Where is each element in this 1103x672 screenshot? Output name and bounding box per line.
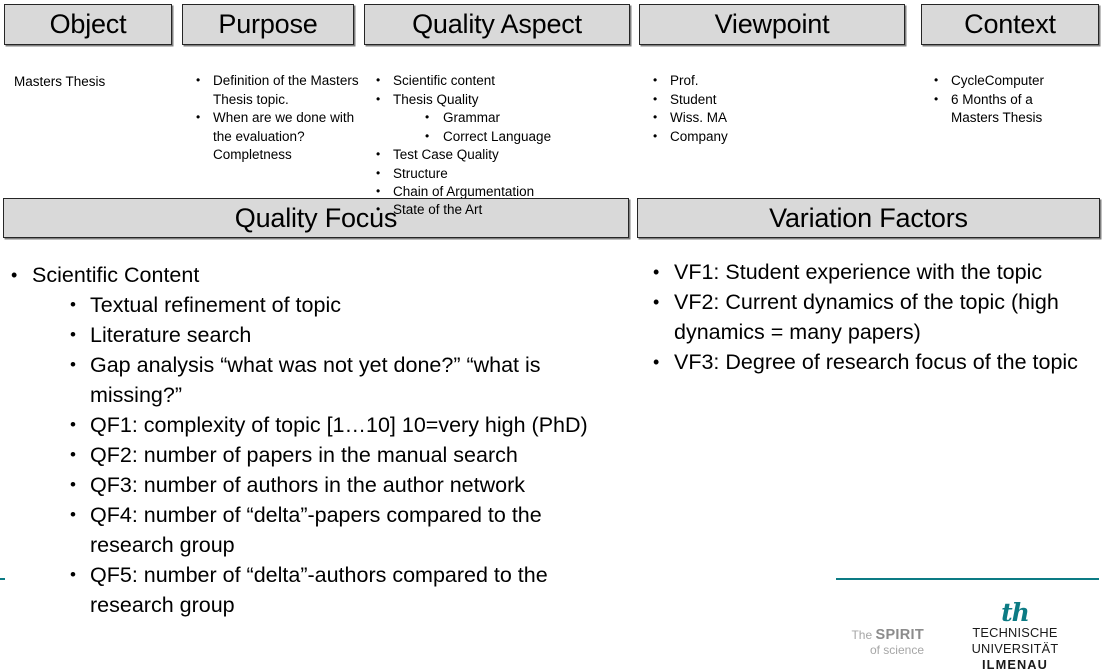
quality-aspect-subitem-label: Correct Language: [443, 129, 551, 144]
th-monogram-icon: th: [930, 601, 1100, 625]
spirit-line-2: of science: [820, 643, 924, 658]
variation-factor-item: VF1: Student experience with the topic: [650, 257, 1090, 287]
purpose-item: Definition of the Masters Thesis topic.: [192, 72, 370, 109]
quality-aspect-list: Scientific content Thesis Quality Gramma…: [372, 72, 634, 202]
quality-focus-list: Scientific Content Textual refinement of…: [8, 260, 628, 620]
spirit-of-science-logo: The SPIRIT of science: [820, 628, 924, 658]
header-box-viewpoint[interactable]: Viewpoint: [639, 4, 905, 45]
header-label-viewpoint: Viewpoint: [715, 11, 830, 38]
column-body-quality-aspect: Scientific content Thesis Quality Gramma…: [372, 72, 634, 202]
quality-aspect-item-label: Thesis Quality: [393, 92, 479, 107]
viewpoint-item-label: Prof.: [670, 73, 699, 88]
quality-focus-item: QF3: number of authors in the author net…: [32, 470, 628, 500]
spirit-word: SPIRIT: [875, 627, 924, 643]
context-item-label: 6 Months of a Masters Thesis: [951, 92, 1042, 126]
context-item: 6 Months of a Masters Thesis: [930, 91, 1080, 128]
quality-aspect-item: Test Case Quality: [372, 146, 634, 165]
purpose-list: Definition of the Masters Thesis topic. …: [192, 72, 370, 165]
context-list: CycleComputer 6 Months of a Masters Thes…: [930, 72, 1080, 128]
quality-aspect-item: Scientific content: [372, 72, 634, 91]
spirit-the: The: [851, 628, 875, 642]
viewpoint-item-label: Student: [670, 92, 717, 107]
header-label-variation-factors: Variation Factors: [769, 205, 968, 232]
object-item-0: Masters Thesis: [14, 74, 105, 89]
quality-focus-body: Scientific Content Textual refinement of…: [8, 260, 628, 620]
quality-focus-item: QF1: complexity of topic [1…10] 10=very …: [32, 410, 628, 440]
header-box-variation-factors[interactable]: Variation Factors: [637, 198, 1100, 238]
quality-focus-item-label: QF1: complexity of topic [1…10] 10=very …: [90, 413, 588, 437]
header-box-object[interactable]: Object: [4, 4, 172, 45]
quality-aspect-item-label: Chain of Argumentation: [393, 184, 534, 199]
viewpoint-item: Prof.: [649, 72, 899, 91]
column-body-purpose: Definition of the Masters Thesis topic. …: [192, 72, 370, 165]
quality-aspect-subitem: Grammar: [393, 109, 634, 128]
quality-aspect-item: Structure: [372, 165, 634, 184]
viewpoint-item: Student: [649, 91, 899, 110]
quality-aspect-overflow-item: State of the Art: [372, 201, 634, 220]
viewpoint-item: Wiss. MA: [649, 109, 899, 128]
quality-aspect-subitem: Correct Language: [393, 128, 634, 147]
footer-rule: [836, 578, 1099, 580]
header-label-purpose: Purpose: [218, 11, 317, 38]
footer-rule-left-tick: [0, 578, 5, 580]
column-body-object: Masters Thesis: [14, 73, 174, 92]
quality-aspect-overflow-list: State of the Art: [372, 201, 634, 220]
purpose-item: When are we done with the evaluation? Co…: [192, 109, 370, 165]
header-box-purpose[interactable]: Purpose: [182, 4, 354, 45]
quality-focus-item-label: Gap analysis “what was not yet done?” “w…: [90, 353, 541, 407]
quality-focus-top-item: Scientific Content Textual refinement of…: [8, 260, 628, 620]
header-label-object: Object: [50, 11, 127, 38]
quality-aspect-sublist: Grammar Correct Language: [393, 109, 634, 146]
spirit-line-1: The SPIRIT: [820, 628, 924, 643]
context-item-label: CycleComputer: [951, 73, 1044, 88]
quality-focus-item: QF5: number of “delta”-authors compared …: [32, 560, 628, 620]
header-label-quality-aspect: Quality Aspect: [412, 11, 582, 38]
column-body-viewpoint: Prof. Student Wiss. MA Company: [649, 72, 899, 146]
tu-ilmenau-logo: th TECHNISCHE UNIVERSITÄT ILMENAU: [930, 601, 1100, 672]
quality-focus-sublist: Textual refinement of topic Literature s…: [32, 290, 628, 620]
quality-focus-item-label: QF3: number of authors in the author net…: [90, 473, 525, 497]
quality-focus-top-item-label: Scientific Content: [32, 263, 199, 287]
quality-aspect-item-label: Structure: [393, 166, 448, 181]
variation-factors-list: VF1: Student experience with the topic V…: [650, 257, 1090, 377]
tu-logo-line-2: ILMENAU: [930, 657, 1100, 672]
quality-aspect-item-label: Scientific content: [393, 73, 495, 88]
variation-factor-item-label: VF1: Student experience with the topic: [674, 260, 1042, 284]
variation-factor-item: VF2: Current dynamics of the topic (high…: [650, 287, 1090, 347]
quality-focus-item-label: Literature search: [90, 323, 251, 347]
context-item: CycleComputer: [930, 72, 1080, 91]
variation-factor-item-label: VF2: Current dynamics of the topic (high…: [674, 290, 1059, 344]
quality-focus-item-label: QF4: number of “delta”-papers compared t…: [90, 503, 542, 557]
header-box-context[interactable]: Context: [921, 4, 1099, 45]
purpose-item-label: When are we done with the evaluation? Co…: [213, 110, 354, 162]
purpose-item-label: Definition of the Masters Thesis topic.: [213, 73, 359, 107]
quality-focus-item: QF2: number of papers in the manual sear…: [32, 440, 628, 470]
quality-focus-item: Textual refinement of topic: [32, 290, 628, 320]
quality-aspect-item-label: Test Case Quality: [393, 147, 499, 162]
quality-aspect-item: Thesis Quality Grammar Correct Language: [372, 91, 634, 147]
viewpoint-item-label: Wiss. MA: [670, 110, 727, 125]
quality-aspect-item: State of the Art: [372, 201, 634, 220]
quality-focus-item-label: QF2: number of papers in the manual sear…: [90, 443, 518, 467]
quality-focus-item-label: QF5: number of “delta”-authors compared …: [90, 563, 548, 617]
viewpoint-list: Prof. Student Wiss. MA Company: [649, 72, 899, 146]
quality-focus-item: QF4: number of “delta”-papers compared t…: [32, 500, 628, 560]
variation-factors-body: VF1: Student experience with the topic V…: [650, 257, 1090, 377]
viewpoint-item-label: Company: [670, 129, 728, 144]
tu-logo-line-1: TECHNISCHE UNIVERSITÄT: [930, 625, 1100, 657]
quality-aspect-subitem-label: Grammar: [443, 110, 500, 125]
variation-factor-item: VF3: Degree of research focus of the top…: [650, 347, 1090, 377]
quality-aspect-item-label: State of the Art: [393, 202, 482, 217]
quality-focus-item-label: Textual refinement of topic: [90, 293, 341, 317]
variation-factor-item-label: VF3: Degree of research focus of the top…: [674, 350, 1078, 374]
quality-focus-item: Gap analysis “what was not yet done?” “w…: [32, 350, 628, 410]
header-label-context: Context: [964, 11, 1056, 38]
header-box-quality-aspect[interactable]: Quality Aspect: [364, 4, 630, 45]
quality-focus-item: Literature search: [32, 320, 628, 350]
column-body-context: CycleComputer 6 Months of a Masters Thes…: [930, 72, 1080, 128]
viewpoint-item: Company: [649, 128, 899, 147]
